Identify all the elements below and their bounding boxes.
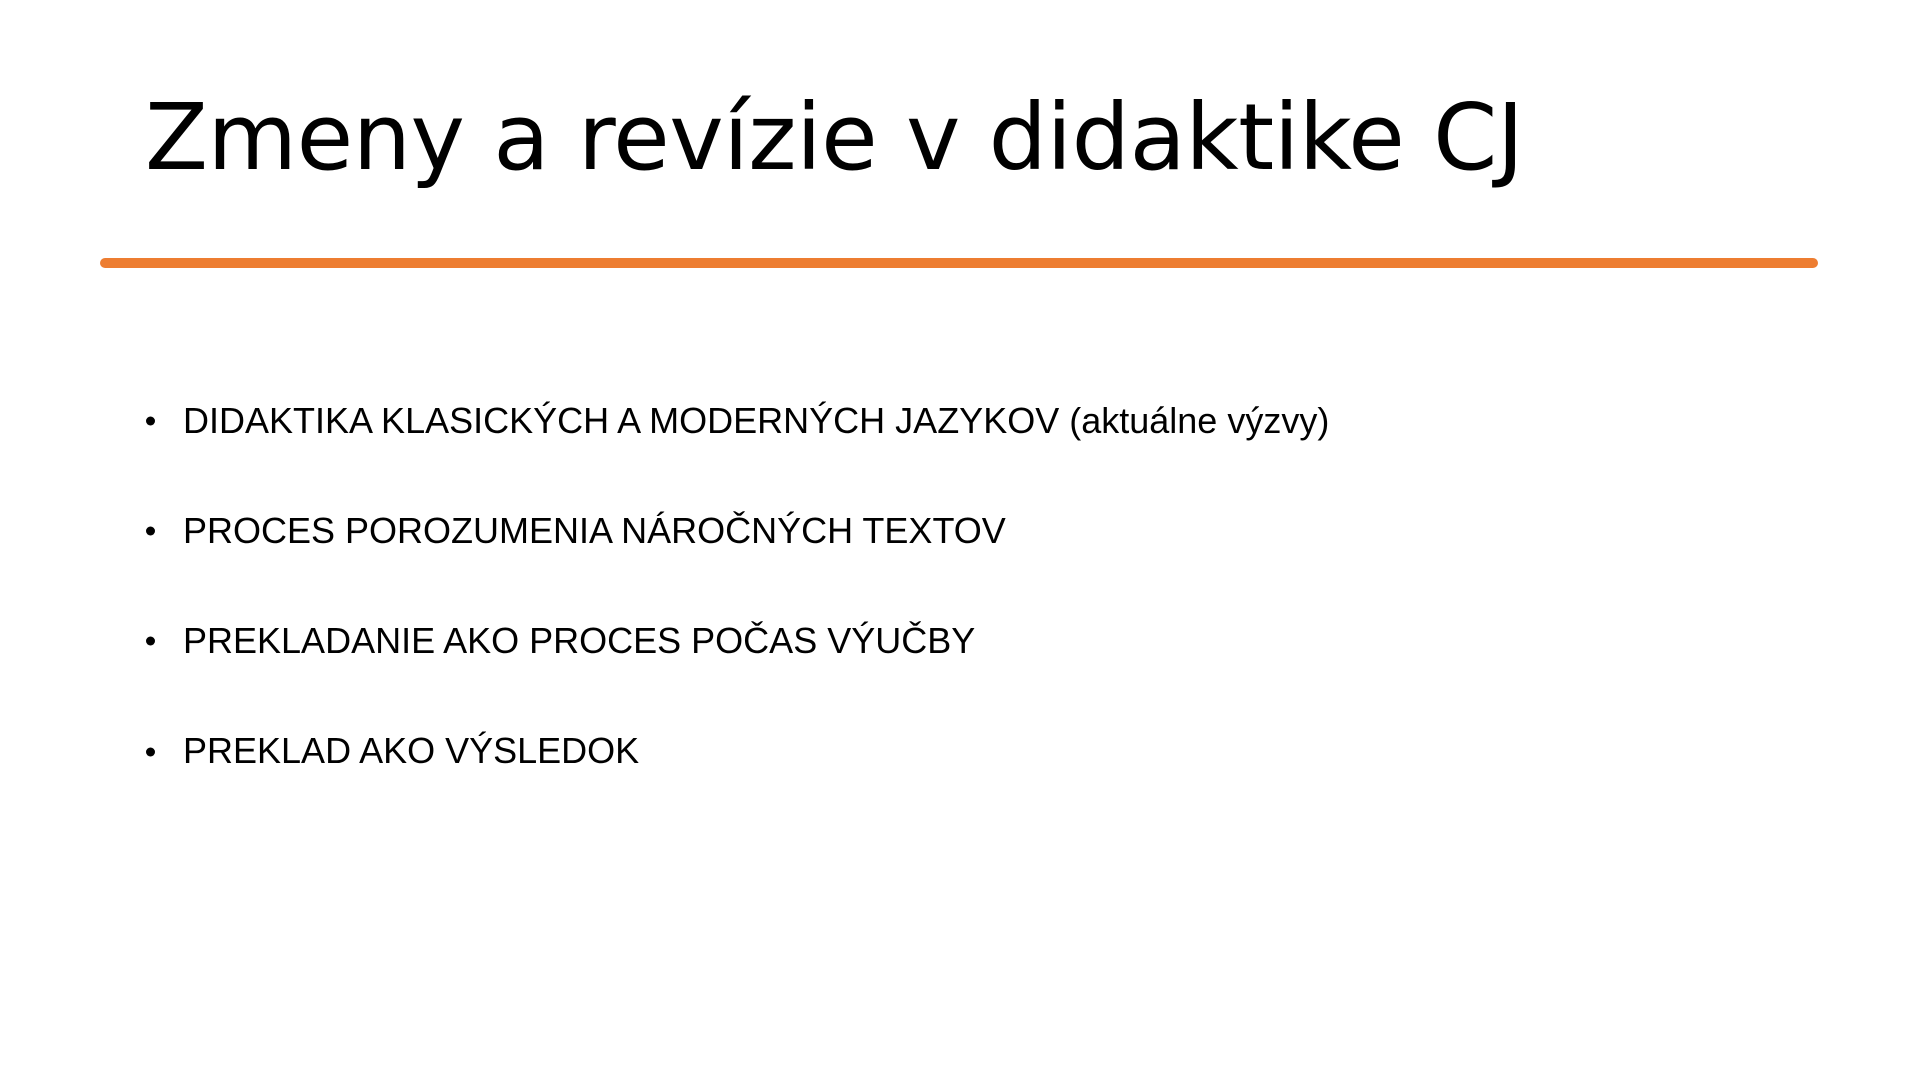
list-item[interactable]: DIDAKTIKA KLASICKÝCH A MODERNÝCH JAZYKOV…: [128, 402, 1828, 440]
list-item[interactable]: PREKLADANIE AKO PROCES POČAS VÝUČBY: [128, 622, 1828, 660]
list-item-label: DIDAKTIKA KLASICKÝCH A MODERNÝCH JAZYKOV…: [183, 400, 1329, 441]
list-item-label: PROCES POROZUMENIA NÁROČNÝCH TEXTOV: [183, 510, 1006, 551]
list-item[interactable]: PROCES POROZUMENIA NÁROČNÝCH TEXTOV: [128, 512, 1828, 550]
list-item[interactable]: PREKLAD AKO VÝSLEDOK: [128, 732, 1828, 770]
bullet-dot-icon: [146, 417, 155, 426]
bullet-dot-icon: [146, 747, 155, 756]
list-item-label: PREKLAD AKO VÝSLEDOK: [183, 730, 639, 771]
presentation-slide: Zmeny a revízie v didaktike CJ DIDAKTIKA…: [0, 0, 1920, 1080]
body-placeholder-bullet-list[interactable]: DIDAKTIKA KLASICKÝCH A MODERNÝCH JAZYKOV…: [128, 402, 1828, 771]
bullet-dot-icon: [146, 527, 155, 536]
title-placeholder[interactable]: Zmeny a revízie v didaktike CJ: [145, 88, 1795, 198]
title-underline-rule: [100, 258, 1818, 268]
bullet-dot-icon: [146, 637, 155, 646]
list-item-label: PREKLADANIE AKO PROCES POČAS VÝUČBY: [183, 620, 975, 661]
page-title: Zmeny a revízie v didaktike CJ: [145, 88, 1795, 187]
